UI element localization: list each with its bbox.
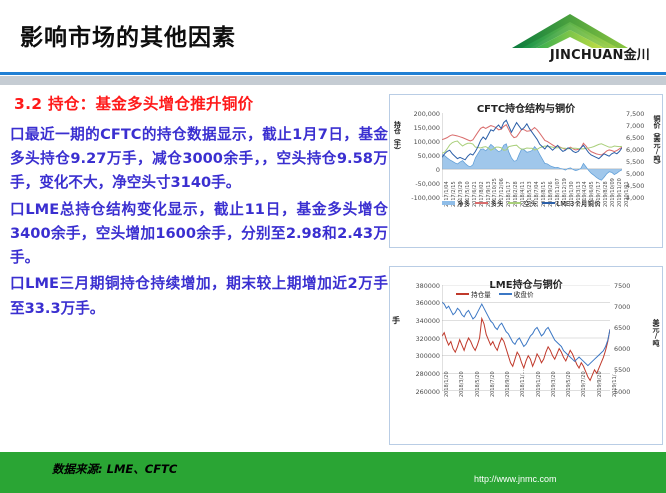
lme-legend: 持仓量收盘价 (456, 289, 534, 299)
y-tick-label: 0 (398, 166, 440, 174)
y-tick-label: 340000 (400, 317, 440, 325)
header-divider-blue (0, 72, 666, 75)
legend-item: LME3个月铜价 (542, 198, 601, 208)
body-paragraph-1: 口最近一期的CFTC的持仓数据显示，截止1月7日，基金多头持仓9.27万手，减仓… (10, 123, 388, 196)
series-area-净多 (442, 144, 622, 180)
y-tick-label: 380000 (400, 282, 440, 290)
cftc-y2-axis-title: 铜价（美元/吨） (653, 115, 660, 168)
series-line-收盘价 (442, 302, 610, 366)
x-tick-label: 2018/5/20 (475, 371, 481, 397)
legend-item: 多头 (475, 198, 503, 208)
x-tick-label: 2020/1/01 (624, 181, 630, 207)
body-paragraph-2: 口LME总持仓结构变化显示，截止11日，基金多头增仓3400余手，空头增加160… (10, 198, 388, 271)
legend-item: 收盘价 (499, 289, 534, 299)
y-tick-label: 50,000 (398, 152, 440, 160)
y-tick-label: 5000 (614, 388, 642, 396)
x-tick-label: 2019/5/20 (566, 371, 572, 397)
body-paragraph-3: 口LME三月期铜持仓持续增加，期末较上期增加近2万手至33.3万手。 (10, 272, 388, 320)
y-tick-label: 6,500 (626, 134, 652, 142)
x-tick-label: 2019/8/28 (603, 181, 609, 207)
header-divider-gray (0, 76, 666, 85)
legend-swatch (456, 293, 469, 295)
legend-swatch (442, 201, 455, 205)
y-tick-label: 6,000 (626, 146, 652, 154)
y-tick-label: 5500 (614, 366, 642, 374)
y-tick-label: 6500 (614, 324, 642, 332)
x-tick-label: 2018/9/20 (505, 371, 511, 397)
legend-swatch (508, 202, 521, 204)
x-tick-label: 2019/9/20 (597, 371, 603, 397)
legend-label: 持仓量 (471, 289, 491, 299)
logo-wordmark: JINCHUAN金川 (550, 44, 650, 63)
x-tick-label: 2019/7/20 (581, 371, 587, 397)
y-tick-label: 150,000 (398, 124, 440, 132)
y-tick-label: 7,500 (626, 110, 652, 118)
y-tick-label: 280000 (400, 370, 440, 378)
content-column: 3.2 持仓：基金多头增仓推升铜价 口最近一期的CFTC的持仓数据显示，截止1月… (8, 92, 388, 323)
legend-label: 多头 (490, 198, 503, 208)
y-tick-label: 6000 (614, 345, 642, 353)
legend-label: 收盘价 (514, 289, 534, 299)
x-tick-label: 2018/11/... (520, 370, 526, 397)
legend-item: 空头 (508, 198, 536, 208)
page-title: 影响市场的其他因素 (20, 18, 236, 52)
y-tick-label: 100,000 (398, 138, 440, 146)
lme-chart-panel: LME持仓与铜价 手 美元/吨 380000360000340000320000… (389, 266, 663, 445)
legend-swatch (499, 293, 512, 295)
y-tick-label: 320000 (400, 335, 440, 343)
y-tick-label: 5,000 (626, 170, 652, 178)
x-tick-label: 2019/10/09 (610, 178, 616, 207)
y-tick-label: -100,000 (398, 194, 440, 202)
y-tick-label: 7000 (614, 303, 642, 311)
legend-swatch (475, 202, 488, 204)
x-tick-label: 2019/3/20 (551, 371, 557, 397)
section-heading: 3.2 持仓：基金多头增仓推升铜价 (14, 92, 388, 114)
y-tick-label: -50,000 (398, 180, 440, 188)
cftc-legend: 净多多头空头LME3个月铜价 (442, 198, 601, 208)
slide-header: 影响市场的其他因素 JINCHUAN金川 (0, 0, 666, 72)
data-source-note: 数据来源: LME、CFTC (52, 461, 177, 477)
legend-item: 净多 (442, 198, 470, 208)
y-tick-label: 200,000 (398, 110, 440, 118)
y-tick-label: 300000 (400, 352, 440, 360)
y-tick-label: 260000 (400, 388, 440, 396)
x-tick-label: 2019/11/20 (617, 178, 623, 207)
x-tick-label: 2018/1/20 (444, 371, 450, 397)
y-tick-label: 7,000 (626, 122, 652, 130)
x-tick-label: 2018/7/20 (490, 371, 496, 397)
data-source-label: 数据来源: (52, 462, 103, 476)
legend-swatch (542, 202, 555, 204)
y-tick-label: 7500 (614, 282, 642, 290)
legend-label: 空头 (523, 198, 536, 208)
lme-y2-axis-title: 美元/吨 (652, 319, 659, 346)
x-tick-label: 2018/3/20 (459, 371, 465, 397)
y-tick-label: 5,500 (626, 158, 652, 166)
legend-label: 净多 (457, 198, 470, 208)
x-tick-label: 2019/11/... (612, 370, 618, 397)
lme-y-axis-title: 手 (392, 317, 400, 325)
legend-item: 持仓量 (456, 289, 491, 299)
legend-label: LME3个月铜价 (557, 198, 601, 208)
data-source-value: LME、CFTC (107, 462, 178, 476)
footer-url[interactable]: http://www.jnmc.com (474, 474, 557, 484)
cftc-chart-panel: CFTC持仓结构与铜价 持仓（手） 铜价（美元/吨） 200,000150,00… (389, 94, 663, 248)
y-tick-label: 360000 (400, 299, 440, 307)
x-tick-label: 2019/1/20 (536, 371, 542, 397)
